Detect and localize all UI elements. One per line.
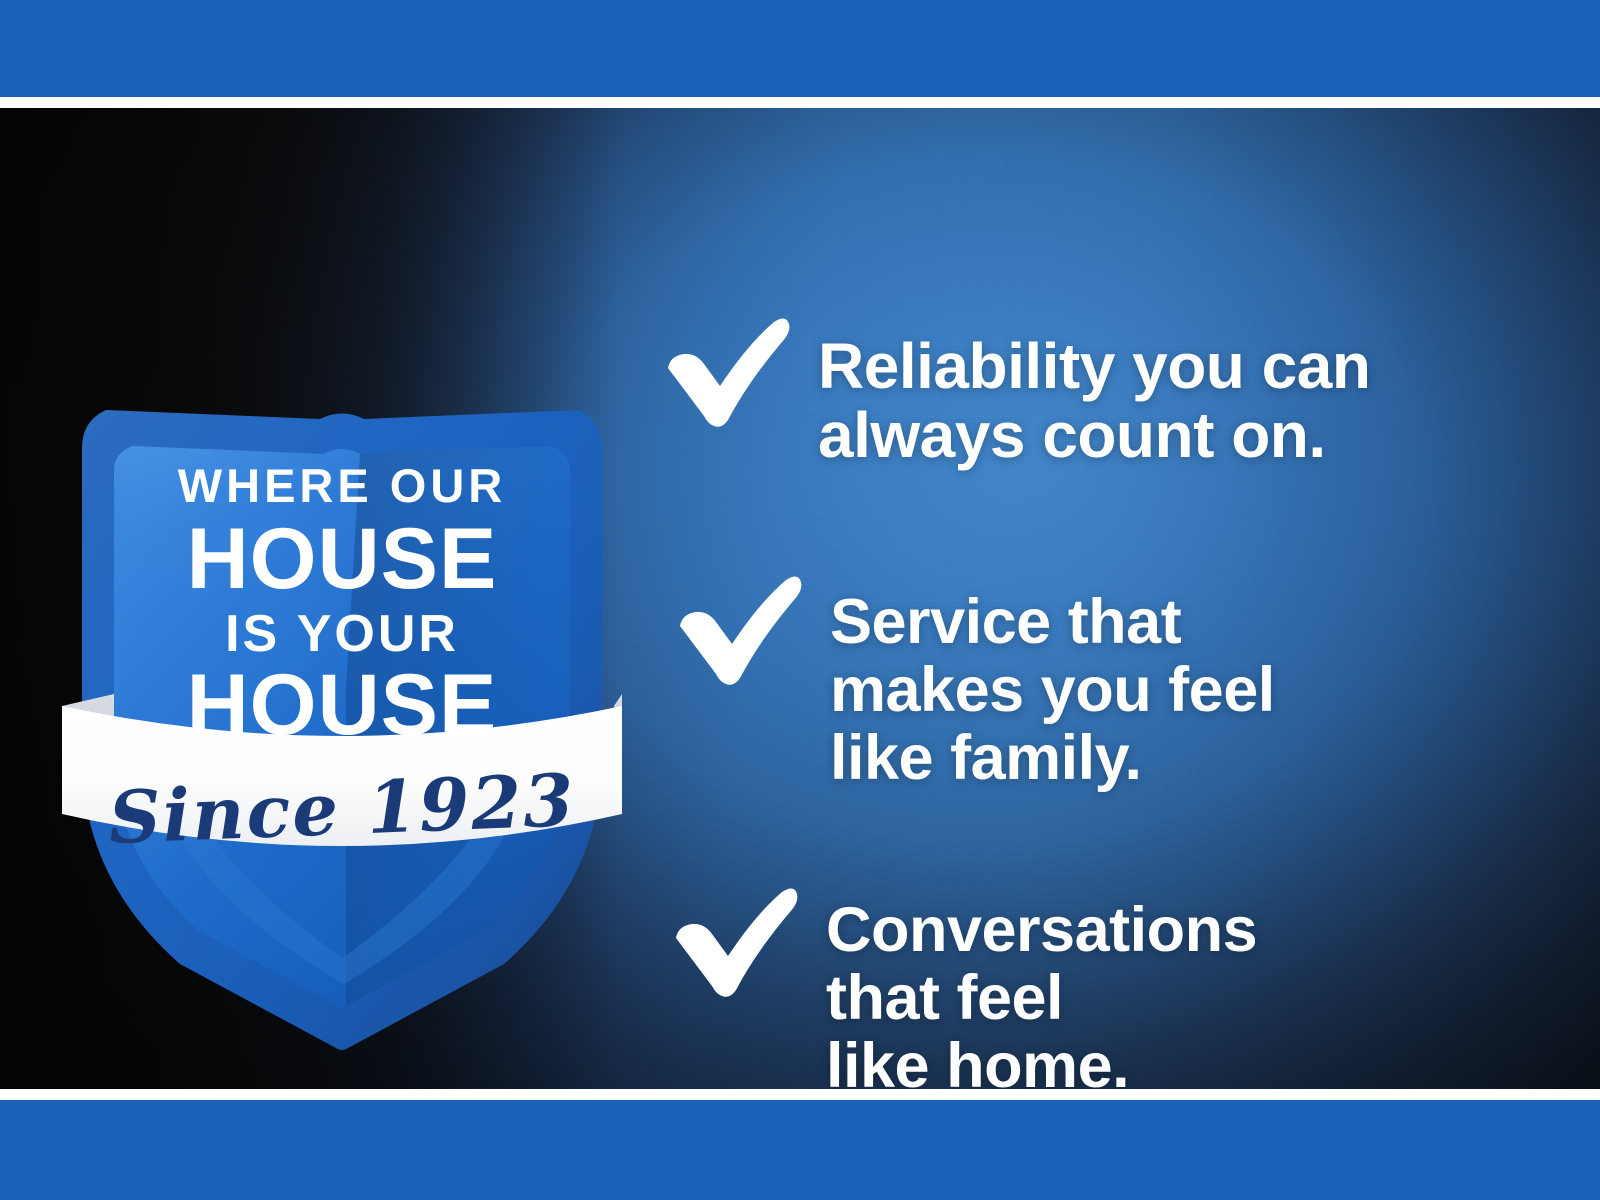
benefit-item-reliability: Reliability you can always count on. <box>660 316 1370 470</box>
benefit-text-conversations: Conversations that feel like home. <box>826 886 1257 1089</box>
checkmark-icon <box>668 886 800 998</box>
checkmark-icon <box>672 574 804 686</box>
benefit-line: like home. <box>826 1032 1257 1089</box>
benefit-item-conversations: Conversations that feel like home. <box>668 886 1257 1089</box>
benefit-line: like family. <box>830 724 1275 792</box>
shield-badge: WHERE OUR HOUSE IS YOUR HOUSE Since 1923 <box>52 258 632 1058</box>
main-canvas: WHERE OUR HOUSE IS YOUR HOUSE Since 1923… <box>0 108 1600 1089</box>
benefit-line: Service that <box>830 588 1275 656</box>
benefit-text-reliability: Reliability you can always count on. <box>818 316 1370 470</box>
benefit-line: Reliability you can <box>818 332 1370 401</box>
benefit-line: always count on. <box>818 401 1370 470</box>
benefit-text-service: Service that makes you feel like family. <box>830 574 1275 792</box>
benefit-line: Conversations <box>826 896 1257 964</box>
benefit-item-service: Service that makes you feel like family. <box>672 574 1275 792</box>
top-white-divider <box>0 97 1600 108</box>
benefit-line: that feel <box>826 964 1257 1032</box>
benefit-line: makes you feel <box>830 656 1275 724</box>
shield-badge-graphic <box>52 258 632 1058</box>
bottom-white-divider <box>0 1089 1600 1100</box>
benefits-list: Reliability you can always count on. Ser… <box>660 216 1540 1089</box>
checkmark-icon <box>660 316 792 428</box>
top-brand-bar <box>0 0 1600 97</box>
bottom-brand-bar <box>0 1100 1600 1200</box>
promo-poster: WHERE OUR HOUSE IS YOUR HOUSE Since 1923… <box>0 0 1600 1200</box>
